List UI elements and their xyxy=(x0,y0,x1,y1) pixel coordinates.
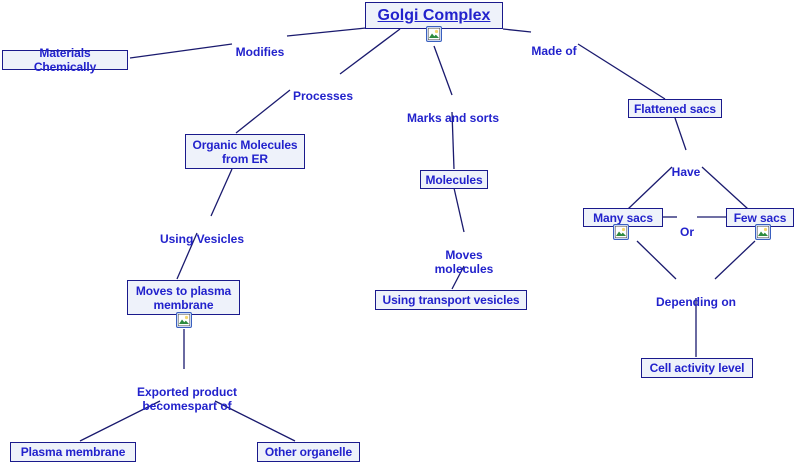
link-label-using-vesicles-text: Using Vesicles xyxy=(160,232,244,246)
node-flattened-sacs[interactable]: Flattened sacs xyxy=(628,99,722,118)
node-many-sacs-label: Many sacs xyxy=(593,211,653,225)
link-label-exported-product-text: Exported product becomespart of xyxy=(137,385,237,413)
node-cell-activity-level[interactable]: Cell activity level xyxy=(641,358,753,378)
picture-icon[interactable] xyxy=(426,26,442,42)
link-label-processes-text: Processes xyxy=(293,89,353,103)
link-label-made-of: Made of xyxy=(529,30,579,58)
node-molecules-label: Molecules xyxy=(425,173,482,187)
node-materials-chemically-label: Materials Chemically xyxy=(8,46,122,74)
node-other-organelle-label: Other organelle xyxy=(265,445,352,459)
picture-icon[interactable] xyxy=(613,224,629,240)
node-organic-molecules-from-er-label: Organic Molecules from ER xyxy=(193,138,298,166)
picture-icon[interactable] xyxy=(755,224,771,240)
node-other-organelle[interactable]: Other organelle xyxy=(257,442,360,462)
node-moves-to-plasma-membrane[interactable]: Moves to plasma membrane xyxy=(127,280,240,315)
node-using-transport-vesicles[interactable]: Using transport vesicles xyxy=(375,290,527,310)
link-label-depending-on-text: Depending on xyxy=(656,295,736,309)
node-materials-chemically[interactable]: Materials Chemically xyxy=(2,50,128,70)
link-label-depending-on: Depending on xyxy=(645,281,747,309)
node-flattened-sacs-label: Flattened sacs xyxy=(634,102,716,116)
link-label-have-text: Have xyxy=(672,165,701,179)
link-label-moves-molecules-text: Moves molecules xyxy=(435,248,494,276)
node-few-sacs-label: Few sacs xyxy=(734,211,787,225)
link-label-marks-and-sorts-text: Marks and sorts xyxy=(407,111,499,125)
node-using-transport-vesicles-label: Using transport vesicles xyxy=(383,293,520,307)
node-golgi-complex[interactable]: Golgi Complex xyxy=(365,2,503,29)
node-molecules[interactable]: Molecules xyxy=(420,170,488,189)
node-plasma-membrane[interactable]: Plasma membrane xyxy=(10,442,136,462)
link-label-or: Or xyxy=(676,211,698,239)
link-label-using-vesicles: Using Vesicles xyxy=(156,218,248,246)
concept-map-canvas: Golgi Complex Materials Chemically Organ… xyxy=(0,0,797,468)
node-cell-activity-level-label: Cell activity level xyxy=(650,361,745,375)
link-label-moves-molecules: Moves molecules xyxy=(428,234,500,276)
node-organic-molecules-from-er[interactable]: Organic Molecules from ER xyxy=(185,134,305,169)
link-label-have: Have xyxy=(663,151,709,179)
link-label-made-of-text: Made of xyxy=(531,44,576,58)
link-label-modifies-text: Modifies xyxy=(236,45,285,59)
link-label-modifies: Modifies xyxy=(232,31,288,59)
link-label-or-text: Or xyxy=(680,225,694,239)
picture-icon[interactable] xyxy=(176,312,192,328)
node-moves-to-plasma-membrane-label: Moves to plasma membrane xyxy=(136,284,231,312)
node-plasma-membrane-label: Plasma membrane xyxy=(21,445,126,459)
link-label-processes: Processes xyxy=(288,75,358,103)
node-golgi-complex-label: Golgi Complex xyxy=(378,6,491,26)
link-label-exported-product-becomes-part-of: Exported product becomespart of xyxy=(125,371,249,413)
link-label-marks-and-sorts: Marks and sorts xyxy=(405,97,501,125)
